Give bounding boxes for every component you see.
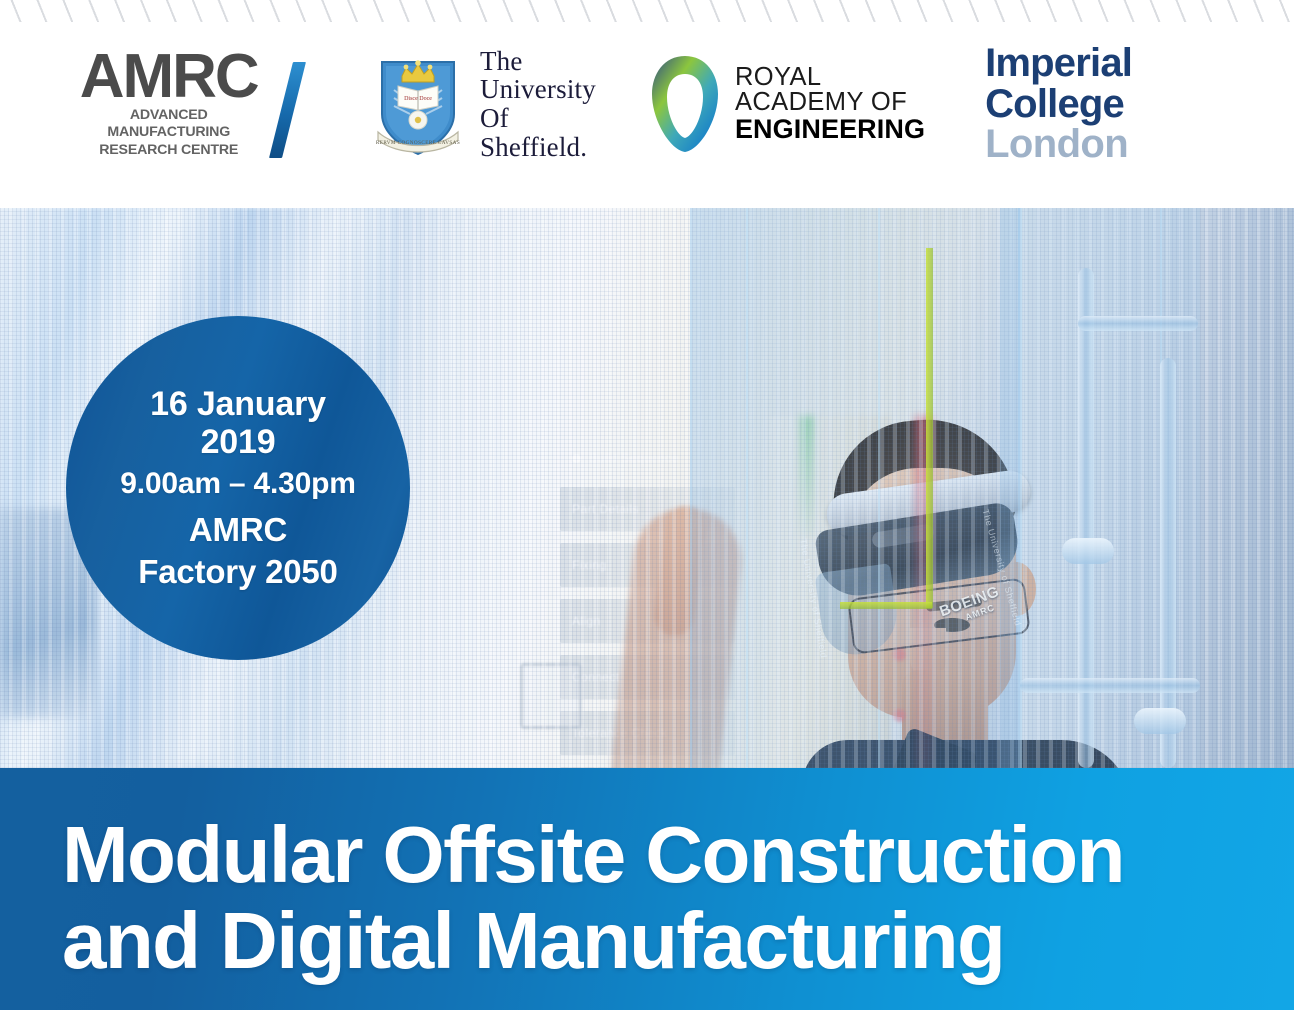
- logo-row: AMRC ADVANCED MANUFACTURING RESEARCH CEN…: [0, 43, 1294, 165]
- event-time: 9.00am – 4.30pm: [120, 461, 356, 506]
- imperial-line-1: Imperial College: [985, 43, 1272, 125]
- sheffield-crest-icon: Disce Doce RERVM COGNOSCERE CAVSAS: [372, 50, 464, 158]
- event-date: 16 January: [150, 385, 326, 423]
- event-title-line-2: and Digital Manufacturing: [62, 898, 1294, 984]
- sheffield-line-3: Of: [480, 104, 596, 133]
- amrc-acronym: AMRC: [70, 48, 267, 106]
- decorative-hatch-strip: [0, 0, 1294, 22]
- sheffield-wordmark: The University Of Sheffield.: [480, 47, 596, 161]
- sheffield-line-4: Sheffield.: [480, 133, 596, 162]
- imperial-college-logo: Imperial College London: [985, 43, 1272, 165]
- raeng-wordmark: ROYAL ACADEMY OF ENGINEERING: [735, 65, 925, 143]
- event-details-circle: 16 January 2019 9.00am – 4.30pm AMRC Fac…: [66, 316, 410, 660]
- amrc-logo: AMRC ADVANCED MANUFACTURING RESEARCH CEN…: [70, 48, 294, 160]
- svg-text:Disce Doce: Disce Doce: [404, 96, 432, 102]
- raeng-line-3: ENGINEERING: [735, 116, 925, 143]
- svg-text:RERVM COGNOSCERE CAVSAS: RERVM COGNOSCERE CAVSAS: [376, 140, 460, 146]
- event-venue-site: Factory 2050: [138, 554, 337, 591]
- raeng-line-2: ACADEMY OF: [735, 90, 925, 116]
- event-venue-org: AMRC: [189, 506, 287, 554]
- amrc-logo-text: AMRC ADVANCED MANUFACTURING RESEARCH CEN…: [70, 48, 267, 160]
- amrc-subtitle-line1: ADVANCED MANUFACTURING: [70, 107, 267, 143]
- raeng-line-1: ROYAL: [735, 65, 925, 91]
- logo-header-band: AMRC ADVANCED MANUFACTURING RESEARCH CEN…: [0, 0, 1294, 208]
- event-title-line-1: Modular Offsite Construction: [62, 812, 1294, 898]
- event-year: 2019: [201, 423, 276, 461]
- university-of-sheffield-logo: Disce Doce RERVM COGNOSCERE CAVSAS The U…: [372, 47, 596, 161]
- amrc-subtitle-line2: RESEARCH CENTRE: [70, 142, 267, 160]
- amrc-slash-icon: [269, 62, 305, 158]
- royal-academy-logo: ROYAL ACADEMY OF ENGINEERING: [648, 52, 925, 156]
- sheffield-line-2: University: [480, 75, 596, 104]
- event-title-banner: Modular Offsite Construction and Digital…: [0, 768, 1294, 1010]
- event-flyer: AMRC ADVANCED MANUFACTURING RESEARCH CEN…: [0, 0, 1294, 1010]
- raeng-teardrop-icon: [648, 52, 722, 156]
- sheffield-line-1: The: [480, 47, 596, 76]
- imperial-line-2: London: [985, 124, 1272, 165]
